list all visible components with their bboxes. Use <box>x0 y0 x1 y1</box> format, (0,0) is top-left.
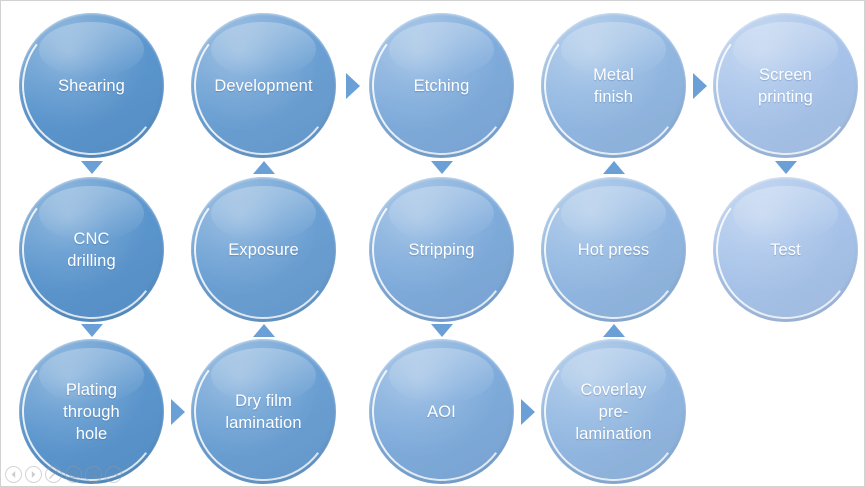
process-node-metal-finish[interactable]: Metalfinish <box>541 13 686 158</box>
connector-arrow-cnc-drilling-to-plating-through-hole <box>81 324 103 337</box>
more-icon[interactable] <box>105 466 122 483</box>
node-sheen <box>389 186 493 241</box>
node-sheen <box>211 186 315 241</box>
node-sheen <box>733 186 837 241</box>
play-icon[interactable] <box>25 466 42 483</box>
process-node-label: Etching <box>404 75 480 97</box>
process-node-hot-press[interactable]: Hot press <box>541 177 686 322</box>
process-node-label: Hot press <box>568 239 660 261</box>
process-node-aoi[interactable]: AOI <box>369 339 514 484</box>
node-sheen <box>389 348 493 403</box>
connector-arrow-etching-to-stripping <box>431 161 453 174</box>
connector-arrow-exposure-to-development <box>253 161 275 174</box>
node-sheen <box>211 22 315 77</box>
process-node-label: Coverlaypre-lamination <box>565 379 661 445</box>
process-node-etching[interactable]: Etching <box>369 13 514 158</box>
connector-arrow-hot-press-to-metal-finish <box>603 161 625 174</box>
zoom-icon[interactable] <box>85 466 102 483</box>
process-node-label: Screenprinting <box>748 64 823 108</box>
node-sheen <box>389 22 493 77</box>
connector-arrow-shearing-to-cnc-drilling <box>81 161 103 174</box>
connector-arrow-plating-through-hole-to-dry-film <box>171 399 185 425</box>
process-node-shearing[interactable]: Shearing <box>19 13 164 158</box>
connector-arrow-coverlay-to-hot-press <box>603 324 625 337</box>
slides-icon[interactable] <box>65 466 82 483</box>
process-node-exposure[interactable]: Exposure <box>191 177 336 322</box>
connector-arrow-development-to-etching <box>346 73 360 99</box>
process-node-label: Dry filmlamination <box>215 390 311 434</box>
connector-arrow-stripping-to-aoi <box>431 324 453 337</box>
connector-arrow-dry-film-to-exposure <box>253 324 275 337</box>
process-node-screen-printing[interactable]: Screenprinting <box>713 13 858 158</box>
process-node-label: Exposure <box>218 239 309 261</box>
pen-icon[interactable] <box>45 466 62 483</box>
process-node-cnc-drilling[interactable]: CNCdrilling <box>19 177 164 322</box>
connector-arrow-metal-finish-to-screen-printing <box>693 73 707 99</box>
node-sheen <box>561 186 665 241</box>
process-node-coverlay-pre-lamination[interactable]: Coverlaypre-lamination <box>541 339 686 484</box>
process-node-label: AOI <box>417 401 466 423</box>
process-node-stripping[interactable]: Stripping <box>369 177 514 322</box>
slide-canvas: ShearingDevelopmentEtchingMetalfinishScr… <box>0 0 865 487</box>
process-node-label: Shearing <box>48 75 135 97</box>
process-node-label: CNCdrilling <box>57 228 126 272</box>
process-node-label: Metalfinish <box>583 64 644 108</box>
process-node-label: Platingthroughhole <box>53 379 130 445</box>
node-sheen <box>39 22 143 77</box>
previous-icon[interactable] <box>5 466 22 483</box>
process-node-dry-film-lamination[interactable]: Dry filmlamination <box>191 339 336 484</box>
connector-arrow-aoi-to-coverlay <box>521 399 535 425</box>
process-node-label: Stripping <box>398 239 484 261</box>
connector-arrow-screen-printing-to-test <box>775 161 797 174</box>
process-node-test[interactable]: Test <box>713 177 858 322</box>
process-node-label: Development <box>204 75 322 97</box>
process-node-development[interactable]: Development <box>191 13 336 158</box>
process-node-label: Test <box>760 239 811 261</box>
process-node-plating-through-hole[interactable]: Platingthroughhole <box>19 339 164 484</box>
presentation-controls[interactable] <box>5 466 122 483</box>
